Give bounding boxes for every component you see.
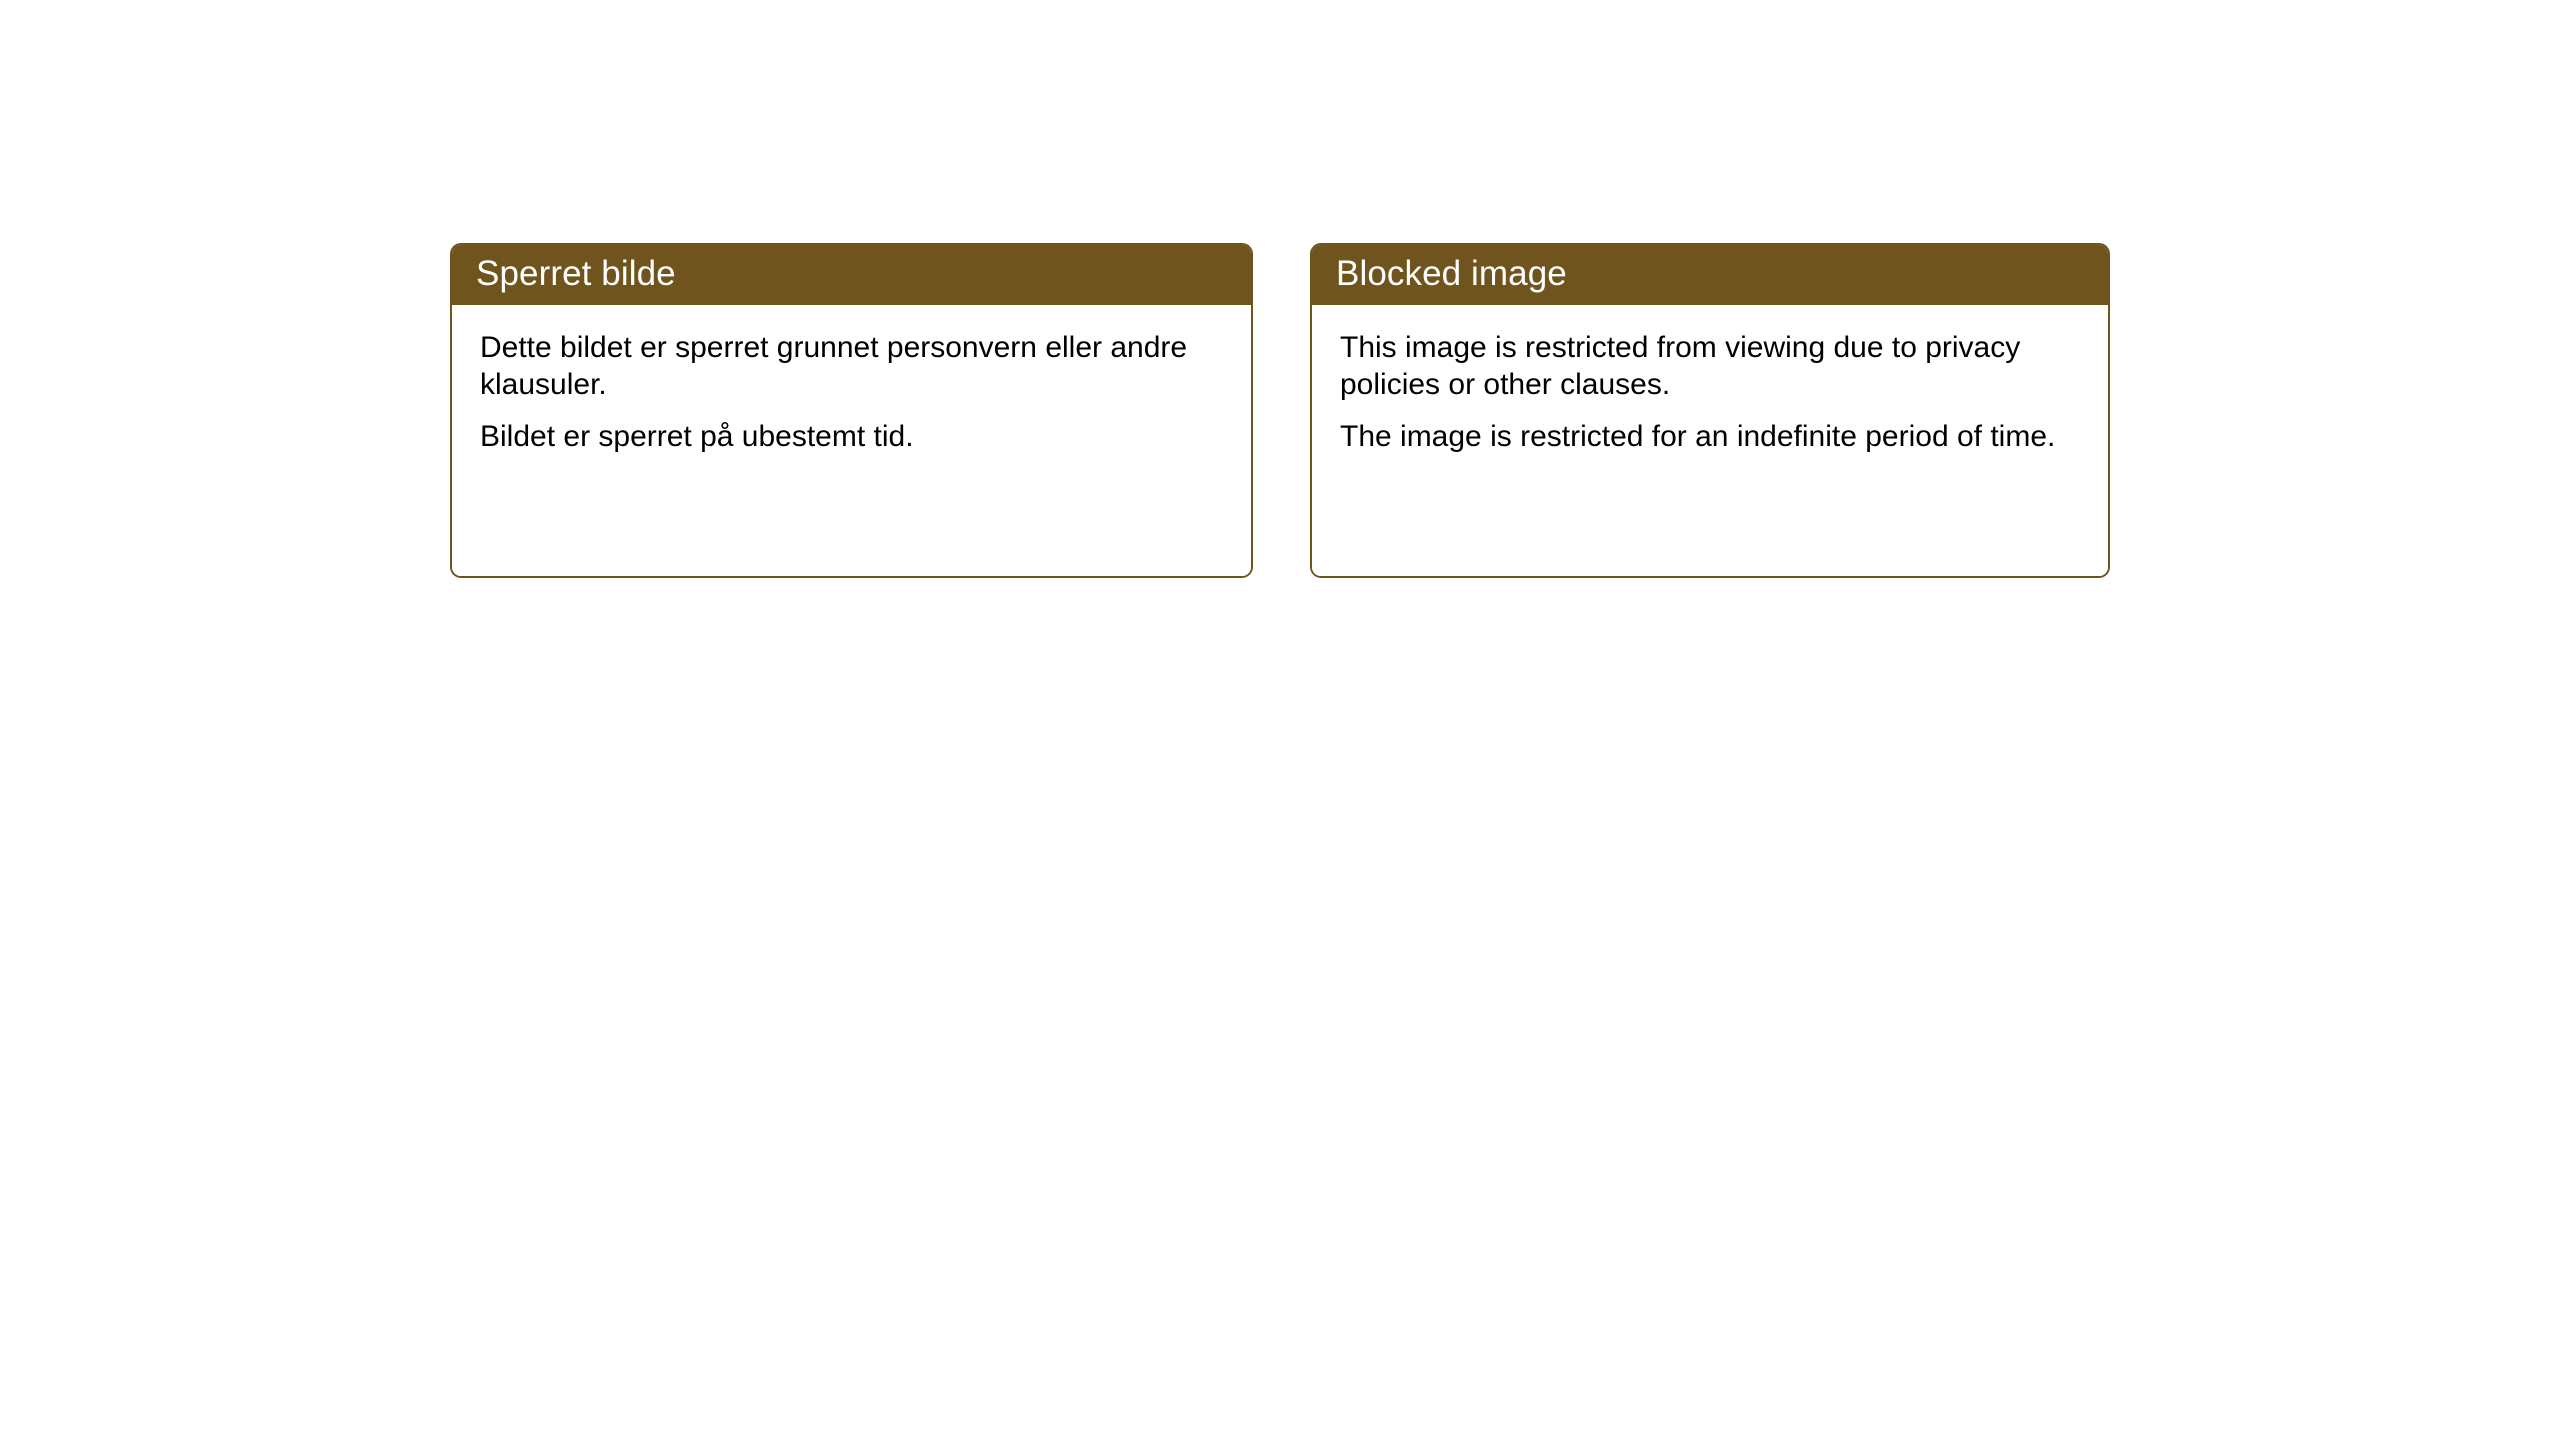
card-paragraph-no-2: Bildet er sperret på ubestemt tid.: [480, 418, 1227, 455]
page-root: Sperret bilde Dette bildet er sperret gr…: [0, 0, 2560, 1440]
card-title-en: Blocked image: [1336, 254, 1567, 294]
card-paragraph-no-1: Dette bildet er sperret grunnet personve…: [480, 329, 1227, 403]
paragraph-spacer-no: [480, 403, 1227, 418]
blocked-image-card-en: Blocked image This image is restricted f…: [1310, 243, 2110, 578]
card-body-en: This image is restricted from viewing du…: [1312, 305, 2108, 576]
card-body-no: Dette bildet er sperret grunnet personve…: [452, 305, 1251, 576]
paragraph-spacer-en: [1340, 403, 2084, 418]
card-paragraph-en-1: This image is restricted from viewing du…: [1340, 329, 2084, 403]
card-header-no: Sperret bilde: [450, 243, 1253, 305]
card-paragraph-en-2: The image is restricted for an indefinit…: [1340, 418, 2084, 455]
card-title-no: Sperret bilde: [476, 254, 676, 294]
blocked-image-card-no: Sperret bilde Dette bildet er sperret gr…: [450, 243, 1253, 578]
blocked-image-notice-group: Sperret bilde Dette bildet er sperret gr…: [450, 243, 2110, 578]
card-header-en: Blocked image: [1310, 243, 2110, 305]
